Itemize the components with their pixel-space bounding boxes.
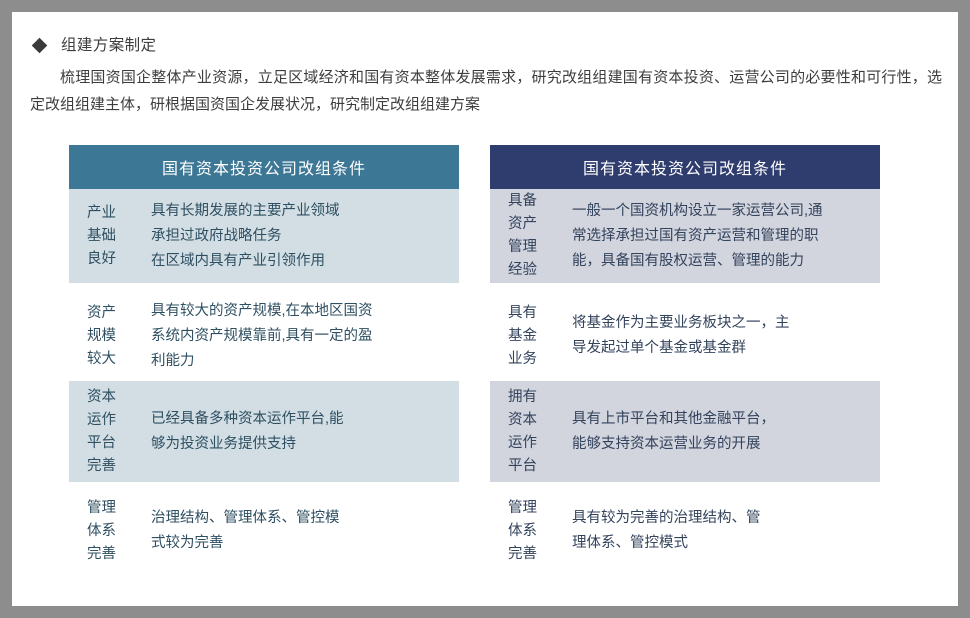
- table-row[interactable]: 资本 运作 平台 完善 已经具备多种资本运作平台,能 够为投资业务提供支持: [69, 381, 459, 482]
- row-label: 具有 基金 业务: [490, 302, 572, 371]
- row-label: 资本 运作 平台 完善: [69, 386, 151, 478]
- table-row[interactable]: 资产 规模 较大 具有较大的资产规模,在本地区国资 系统内资产规模靠前,具有一定…: [69, 291, 459, 381]
- table-row[interactable]: 具备 资产 管理 经验 一般一个国资机构设立一家运营公司,通 常选择承担过国有资…: [490, 189, 880, 283]
- row-description: 具有较为完善的治理结构、管 理体系、管控模式: [572, 506, 880, 556]
- slide-page: 组建方案制定 梳理国资国企整体产业资源，立足区域经济和国有资本整体发展需求，研究…: [12, 12, 958, 606]
- table-row[interactable]: 管理 体系 完善 治理结构、管理体系、管控模 式较为完善: [69, 482, 459, 580]
- row-label: 具备 资产 管理 经验: [490, 190, 572, 282]
- row-label: 拥有 资本 运作 平台: [490, 386, 572, 478]
- row-label: 产业 基础 良好: [69, 202, 151, 271]
- table-row[interactable]: 具有 基金 业务 将基金作为主要业务板块之一，主 导发起过单个基金或基金群: [490, 291, 880, 381]
- row-description: 将基金作为主要业务板块之一，主 导发起过单个基金或基金群: [572, 311, 880, 361]
- table-row[interactable]: 产业 基础 良好 具有长期发展的主要产业领域 承担过政府战略任务 在区域内具有产…: [69, 189, 459, 283]
- row-description: 治理结构、管理体系、管控模 式较为完善: [151, 506, 459, 556]
- comparison-tables: 国有资本投资公司改组条件 产业 基础 良好 具有长期发展的主要产业领域 承担过政…: [12, 12, 958, 606]
- row-description: 具有较大的资产规模,在本地区国资 系统内资产规模靠前,具有一定的盈 利能力: [151, 299, 459, 374]
- row-label: 管理 体系 完善: [490, 497, 572, 566]
- row-description: 已经具备多种资本运作平台,能 够为投资业务提供支持: [151, 407, 459, 457]
- table-left-investment-conditions: 国有资本投资公司改组条件 产业 基础 良好 具有长期发展的主要产业领域 承担过政…: [69, 145, 459, 580]
- table-row[interactable]: 拥有 资本 运作 平台 具有上市平台和其他金融平台， 能够支持资本运营业务的开展: [490, 381, 880, 482]
- row-divider: [490, 283, 880, 291]
- row-label: 管理 体系 完善: [69, 497, 151, 566]
- row-description: 具有上市平台和其他金融平台， 能够支持资本运营业务的开展: [572, 407, 880, 457]
- table-left-header: 国有资本投资公司改组条件: [69, 145, 459, 189]
- table-right-investment-conditions: 国有资本投资公司改组条件 具备 资产 管理 经验 一般一个国资机构设立一家运营公…: [490, 145, 880, 580]
- table-right-header: 国有资本投资公司改组条件: [490, 145, 880, 189]
- row-description: 一般一个国资机构设立一家运营公司,通 常选择承担过国有资产运营和管理的职 能，具…: [572, 199, 880, 274]
- table-left-body: 产业 基础 良好 具有长期发展的主要产业领域 承担过政府战略任务 在区域内具有产…: [69, 189, 459, 580]
- row-description: 具有长期发展的主要产业领域 承担过政府战略任务 在区域内具有产业引领作用: [151, 199, 459, 274]
- row-divider: [69, 283, 459, 291]
- row-label: 资产 规模 较大: [69, 302, 151, 371]
- table-right-body: 具备 资产 管理 经验 一般一个国资机构设立一家运营公司,通 常选择承担过国有资…: [490, 189, 880, 580]
- table-row[interactable]: 管理 体系 完善 具有较为完善的治理结构、管 理体系、管控模式: [490, 482, 880, 580]
